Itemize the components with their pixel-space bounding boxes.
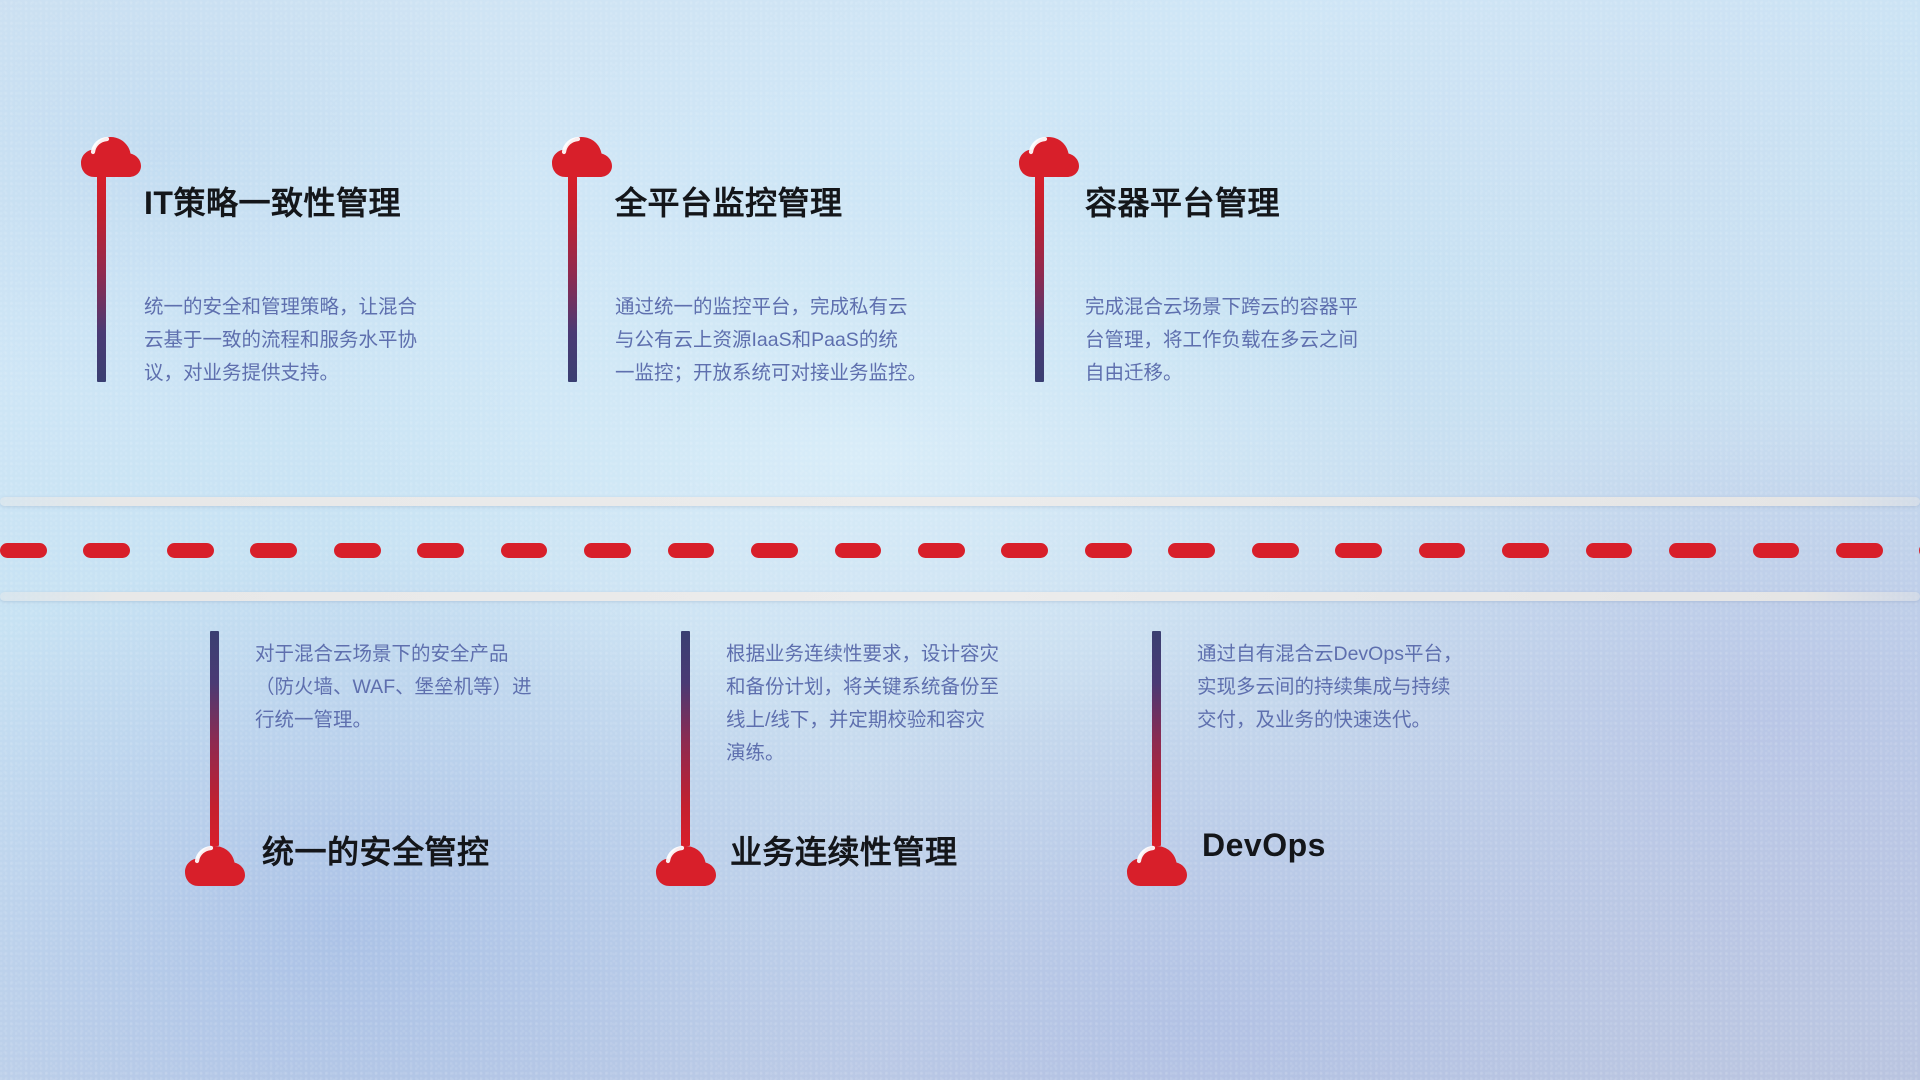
road-dash (835, 543, 882, 558)
road-dash (250, 543, 297, 558)
column-title: 容器平台管理 (1085, 178, 1280, 224)
column-description: 统一的安全和管理策略，让混合 云基于一致的流程和服务水平协 议，对业务提供支持。 (144, 291, 514, 390)
road-edge-bottom (0, 592, 1920, 601)
column-stem (1152, 631, 1161, 846)
cloud-icon (655, 841, 717, 887)
column-description: 通过统一的监控平台，完成私有云 与公有云上资源IaaS和PaaS的统 一监控；开… (615, 291, 1000, 390)
column-title: IT策略一致性管理 (144, 178, 401, 224)
column-description: 通过自有混合云DevOps平台， 实现多云间的持续集成与持续 交付，及业务的快速… (1197, 638, 1547, 737)
cloud-icon (1018, 132, 1080, 178)
column-title: 统一的安全管控 (262, 827, 490, 873)
column-stem (568, 176, 577, 382)
cloud-icon (1126, 841, 1188, 887)
road-dash (1419, 543, 1466, 558)
column-description: 完成混合云场景下跨云的容器平 台管理，将工作负载在多云之间 自由迁移。 (1085, 291, 1455, 390)
road-dash (334, 543, 381, 558)
road-dash (1085, 543, 1132, 558)
road-dash (751, 543, 798, 558)
road-dash (83, 543, 130, 558)
road-dash (1168, 543, 1215, 558)
road-dash (417, 543, 464, 558)
road-dash (1502, 543, 1549, 558)
road-dash (1252, 543, 1299, 558)
column-description: 根据业务连续性要求，设计容灾 和备份计划，将关键系统备份至 线上/线下，并定期校… (726, 638, 1081, 770)
column-stem (210, 631, 219, 846)
road-dash (0, 543, 47, 558)
cloud-icon (551, 132, 613, 178)
road-dash (1001, 543, 1048, 558)
road-dash (501, 543, 548, 558)
road-center-dashes (0, 543, 1920, 558)
road-dash (668, 543, 715, 558)
cloud-icon (80, 132, 142, 178)
road-dash (1836, 543, 1883, 558)
road-dash (167, 543, 214, 558)
column-stem (1035, 176, 1044, 382)
road-dash (584, 543, 631, 558)
road-dash (1335, 543, 1382, 558)
column-stem (681, 631, 690, 846)
road-dash (918, 543, 965, 558)
road-dash (1753, 543, 1800, 558)
column-title: 全平台监控管理 (615, 178, 843, 224)
road-dash (1669, 543, 1716, 558)
column-stem (97, 176, 106, 382)
column-title: DevOps (1202, 827, 1326, 864)
cloud-icon (184, 841, 246, 887)
road-edge-top (0, 497, 1920, 506)
infographic-canvas: IT策略一致性管理 统一的安全和管理策略，让混合 云基于一致的流程和服务水平协 … (0, 0, 1920, 1080)
road-dash (1586, 543, 1633, 558)
column-title: 业务连续性管理 (730, 827, 958, 873)
column-description: 对于混合云场景下的安全产品 （防火墙、WAF、堡垒机等）进 行统一管理。 (255, 638, 605, 737)
